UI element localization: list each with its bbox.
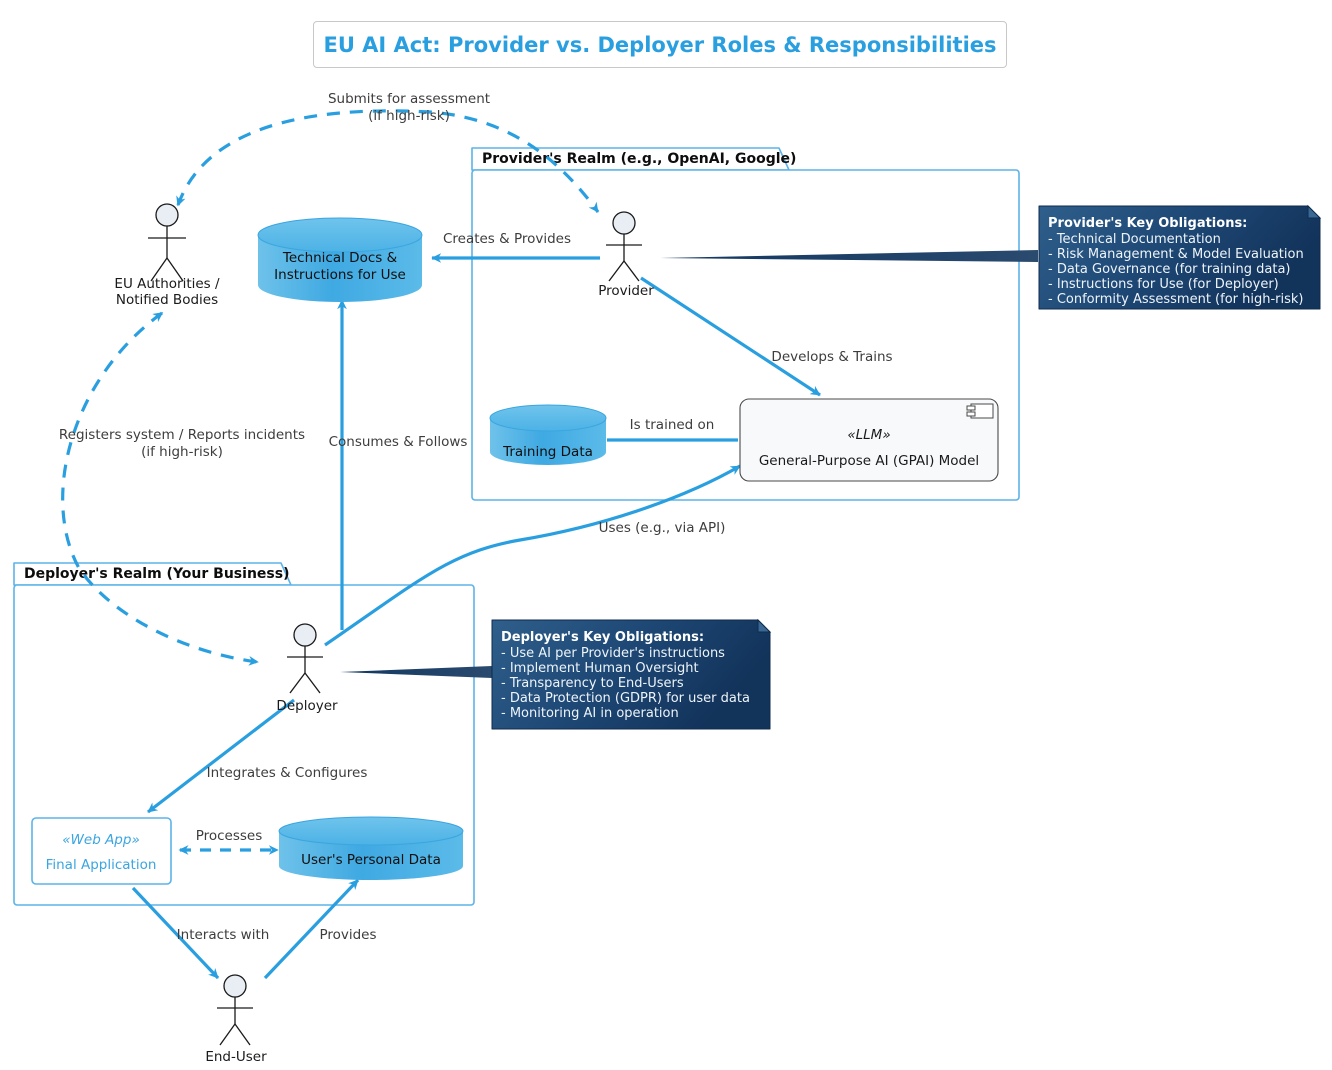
note-heading-provider: Provider's Key Obligations: xyxy=(1048,216,1247,231)
package-title-deployer: Deployer's Realm (Your Business) xyxy=(24,566,289,582)
actor-label-eu-authorities-line2: Notified Bodies xyxy=(116,292,218,308)
actor-label-eu-authorities-line1: EU Authorities / xyxy=(114,276,220,292)
edge-label-develops-trains: Develops & Trains xyxy=(771,349,892,365)
actor-label-end-user: End-User xyxy=(205,1049,267,1065)
edge-label-processes: Processes xyxy=(196,828,263,844)
component-name-webapp: Final Application xyxy=(46,857,157,873)
edge-label-consumes-follows: Consumes & Follows xyxy=(329,434,468,450)
component-final-application[interactable]: «Web App» Final Application xyxy=(32,818,171,884)
actor-end-user[interactable]: End-User xyxy=(205,975,267,1065)
edge-consumes-follows: Consumes & Follows xyxy=(329,300,468,630)
diagram-canvas: EU AI Act: Provider vs. Deployer Roles &… xyxy=(0,0,1332,1070)
db-technical-docs[interactable]: Technical Docs & Instructions for Use xyxy=(258,218,422,302)
note-line-provider-2: - Data Governance (for training data) xyxy=(1048,262,1290,277)
edge-label-submits-line1: Submits for assessment xyxy=(328,91,490,107)
edge-label-registers-line2: (if high-risk) xyxy=(141,444,223,460)
db-training-data[interactable]: Training Data xyxy=(490,405,606,465)
db-label-tech-docs-line2: Instructions for Use xyxy=(274,267,406,283)
component-icon xyxy=(967,404,993,418)
edge-label-creates-provides: Creates & Provides xyxy=(443,231,571,247)
edge-label-is-trained-on: Is trained on xyxy=(630,417,715,433)
note-line-provider-4: - Conformity Assessment (for high-risk) xyxy=(1048,292,1304,307)
edge-label-interacts-with: Interacts with xyxy=(177,927,270,943)
db-personal-data[interactable]: User's Personal Data xyxy=(279,817,463,880)
component-gpai-model[interactable]: «LLM» General-Purpose AI (GPAI) Model xyxy=(740,399,998,481)
note-line-deployer-4: - Monitoring AI in operation xyxy=(501,706,679,721)
component-name-gpai: General-Purpose AI (GPAI) Model xyxy=(759,453,979,469)
db-label-tech-docs-line1: Technical Docs & xyxy=(282,250,398,266)
note-line-provider-3: - Instructions for Use (for Deployer) xyxy=(1048,277,1279,292)
actor-label-deployer: Deployer xyxy=(276,698,338,714)
note-line-provider-1: - Risk Management & Model Evaluation xyxy=(1048,247,1304,262)
component-stereotype-webapp: «Web App» xyxy=(62,832,140,848)
uml-diagram-svg: Provider's Realm (e.g., OpenAI, Google) … xyxy=(0,0,1332,1070)
note-deployer-obligations[interactable]: Deployer's Key Obligations: - Use AI per… xyxy=(492,620,770,729)
note-line-provider-0: - Technical Documentation xyxy=(1048,232,1221,247)
edge-label-integrates-configures: Integrates & Configures xyxy=(207,765,368,781)
note-line-deployer-2: - Transparency to End-Users xyxy=(501,676,684,691)
edge-label-submits-line2: (if high-risk) xyxy=(368,108,450,124)
edge-label-uses-via-api: Uses (e.g., via API) xyxy=(599,520,726,536)
component-stereotype-gpai: «LLM» xyxy=(847,427,890,443)
note-line-deployer-3: - Data Protection (GDPR) for user data xyxy=(501,691,750,706)
actor-eu-authorities[interactable]: EU Authorities / Notified Bodies xyxy=(114,204,220,308)
actor-label-provider: Provider xyxy=(598,283,654,299)
edge-label-provides: Provides xyxy=(319,927,376,943)
note-provider-obligations[interactable]: Provider's Key Obligations: - Technical … xyxy=(1039,206,1320,309)
db-label-personal-data: User's Personal Data xyxy=(301,852,441,868)
note-line-deployer-0: - Use AI per Provider's instructions xyxy=(501,646,725,661)
note-heading-deployer: Deployer's Key Obligations: xyxy=(501,630,704,645)
edge-label-registers-line1: Registers system / Reports incidents xyxy=(59,427,305,443)
package-title-provider: Provider's Realm (e.g., OpenAI, Google) xyxy=(482,151,796,167)
note-line-deployer-1: - Implement Human Oversight xyxy=(501,661,699,676)
db-label-training-data: Training Data xyxy=(502,444,593,460)
